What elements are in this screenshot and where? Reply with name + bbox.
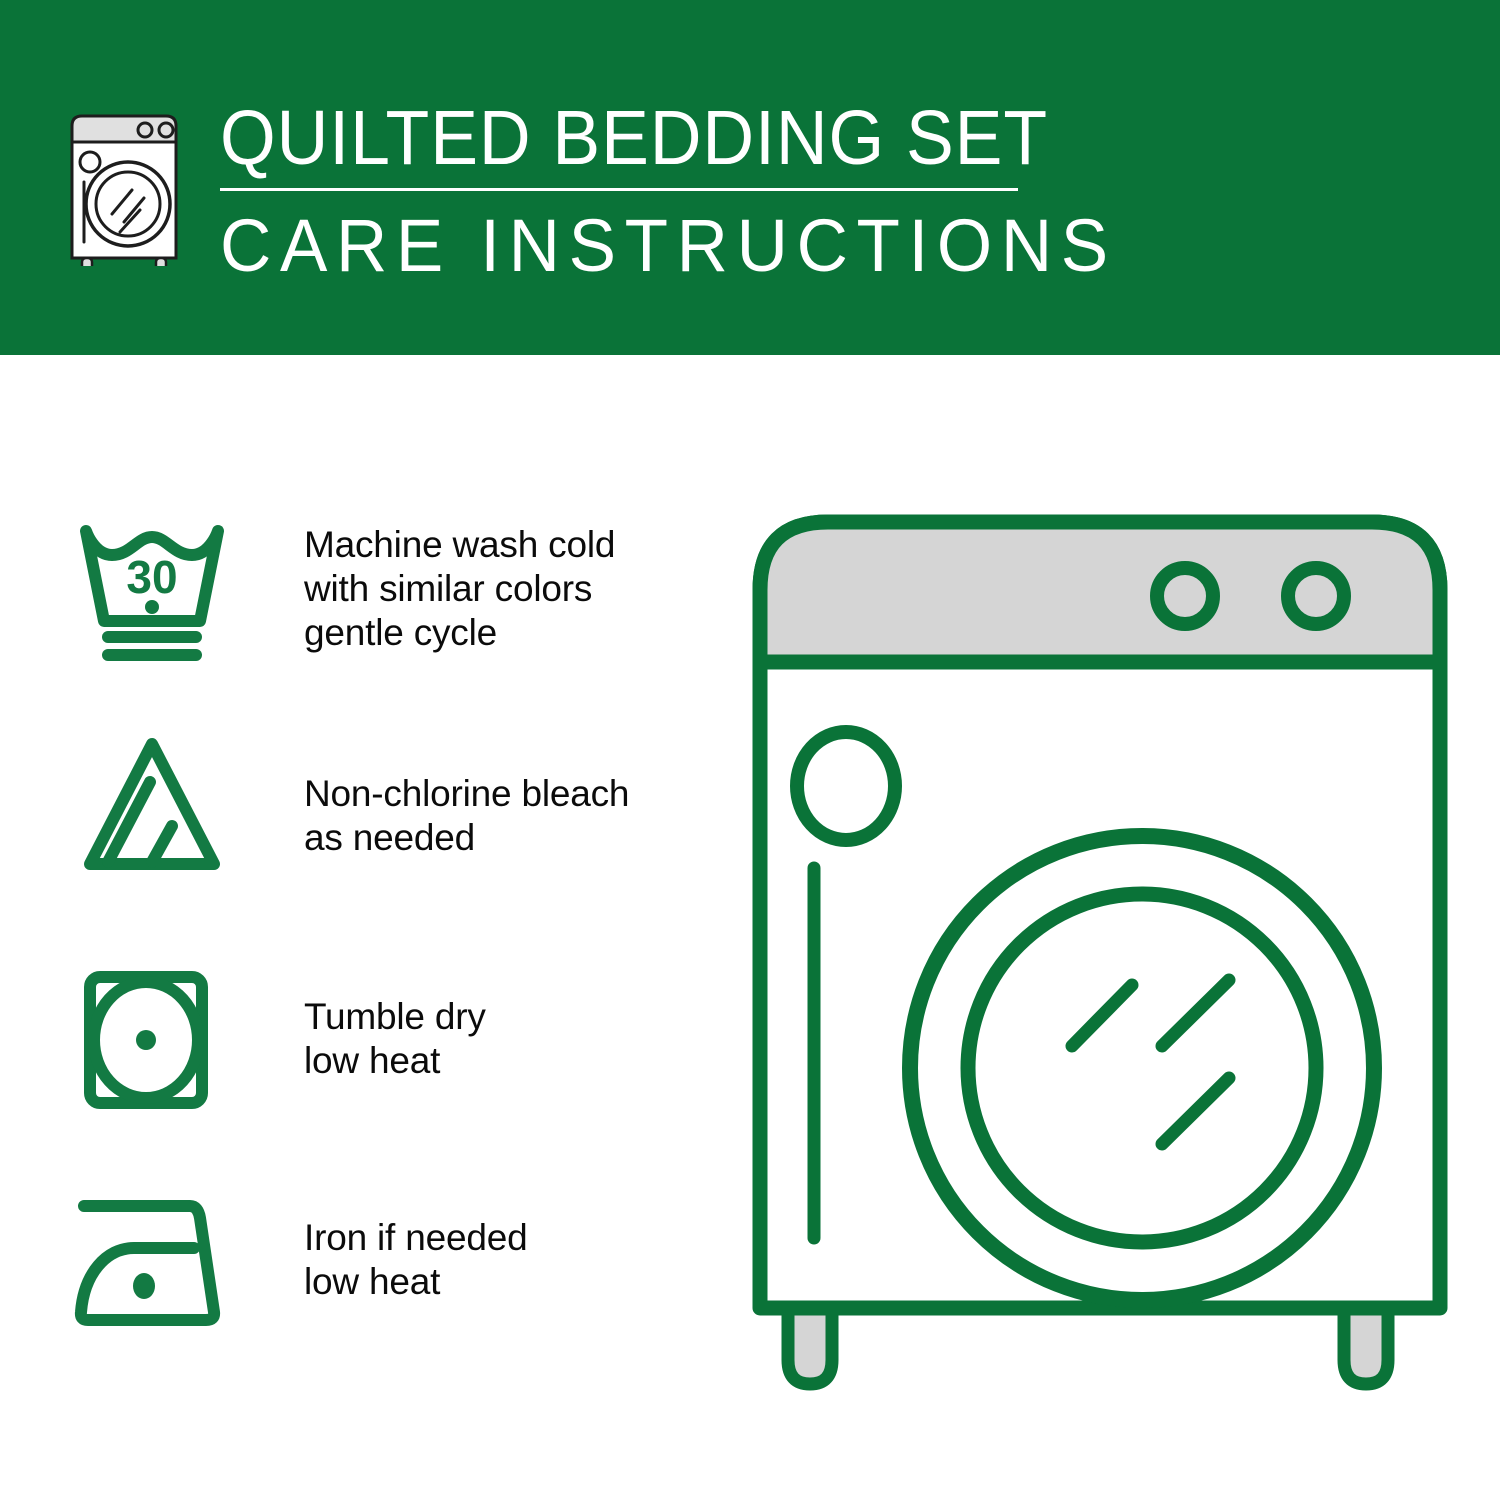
leg-left bbox=[788, 1308, 832, 1384]
header-content: QUILTED BEDDING SET CARE INSTRUCTIONS bbox=[62, 98, 1062, 278]
list-item: Non-chlorine bleach as needed bbox=[72, 730, 692, 900]
washing-machine-logo-icon bbox=[62, 106, 192, 266]
front-load-washing-machine-illustration bbox=[742, 498, 1458, 1428]
list-item-label: Non-chlorine bleach as needed bbox=[242, 730, 692, 860]
care-instructions-page: QUILTED BEDDING SET CARE INSTRUCTIONS 30 bbox=[0, 0, 1500, 1500]
iron-low-heat-icon bbox=[72, 1190, 242, 1340]
care-symbols-list: 30 Machine wash cold with similar colors… bbox=[0, 355, 720, 1500]
leg-right bbox=[1344, 1308, 1388, 1384]
header-band: QUILTED BEDDING SET CARE INSTRUCTIONS bbox=[0, 0, 1500, 355]
page-subtitle: CARE INSTRUCTIONS bbox=[220, 207, 1007, 285]
title-divider-rule bbox=[220, 188, 1018, 191]
header-title-group: QUILTED BEDDING SET CARE INSTRUCTIONS bbox=[220, 98, 1040, 285]
page-title: QUILTED BEDDING SET bbox=[220, 98, 983, 178]
list-item-label: Machine wash cold with similar colors ge… bbox=[242, 515, 692, 655]
non-chlorine-bleach-triangle-icon bbox=[72, 730, 242, 880]
list-item: Iron if needed low heat bbox=[72, 1190, 692, 1360]
list-item-label: Tumble dry low heat bbox=[242, 965, 692, 1083]
tumble-dry-low-icon bbox=[72, 965, 242, 1115]
wash-temperature-value: 30 bbox=[126, 551, 177, 603]
list-item-label: Iron if needed low heat bbox=[242, 1190, 692, 1304]
wash-tub-30-icon: 30 bbox=[72, 515, 242, 665]
list-item: 30 Machine wash cold with similar colors… bbox=[72, 515, 692, 685]
knob-right bbox=[1288, 568, 1344, 624]
list-item: Tumble dry low heat bbox=[72, 965, 692, 1135]
knob-left bbox=[1157, 568, 1213, 624]
